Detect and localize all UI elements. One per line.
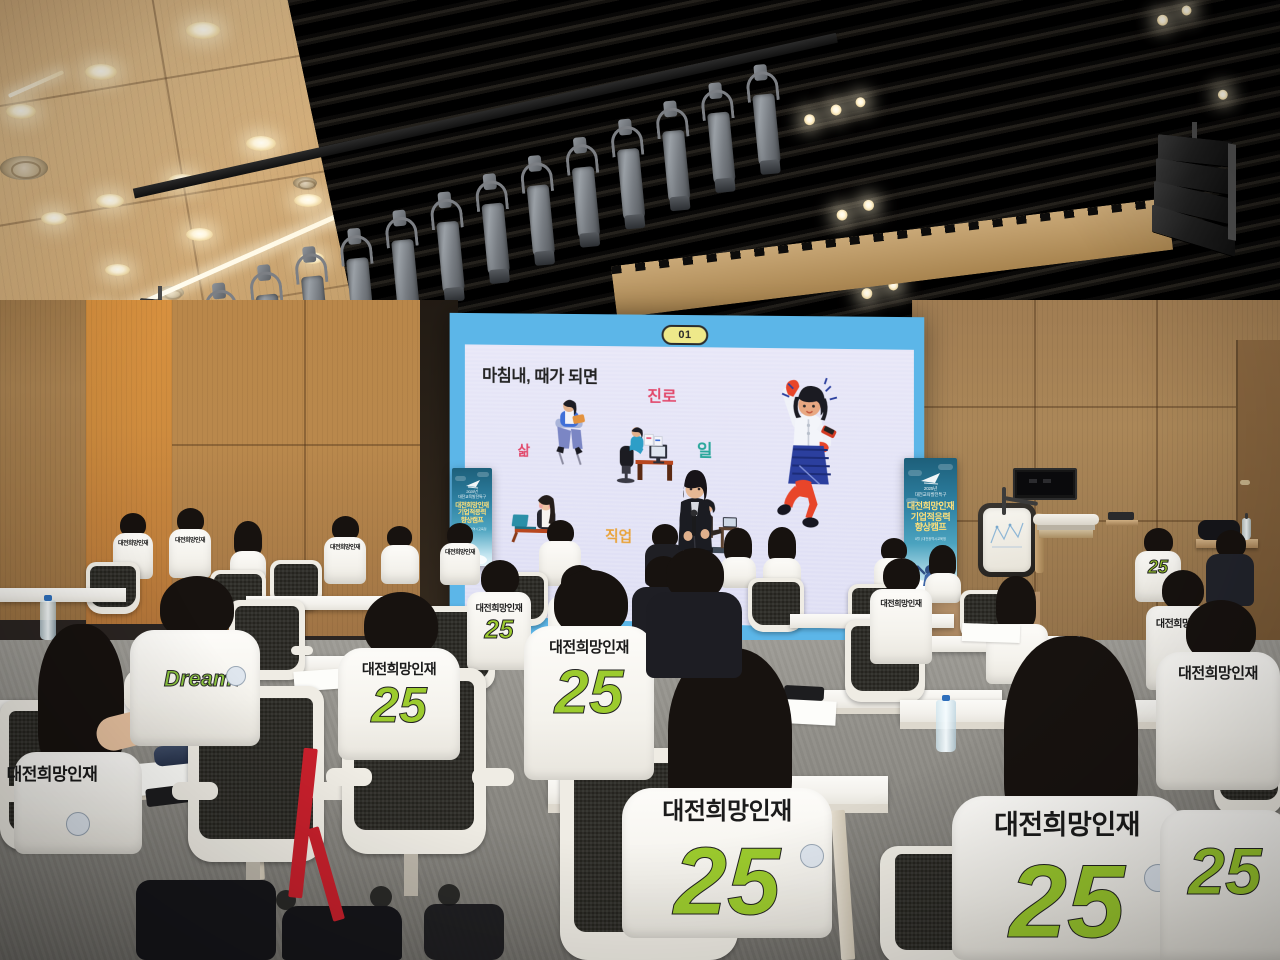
line-array-speaker-right bbox=[1152, 138, 1238, 264]
jersey-back-text: 대전희망인재 bbox=[622, 800, 832, 824]
downlight bbox=[6, 104, 36, 119]
downlight bbox=[186, 22, 220, 39]
jersey-patch bbox=[800, 844, 824, 868]
slide-keyword-sam: 삶 bbox=[518, 441, 530, 461]
stage-spotlight bbox=[571, 158, 602, 256]
slide-title: 마침내, 때가 되면 bbox=[482, 361, 598, 387]
student: 대전희망인재 bbox=[324, 516, 366, 584]
stage-spotlight bbox=[751, 85, 782, 183]
slide-keyword-jinro: 진로 bbox=[647, 382, 676, 406]
banner-left-org: 대전교육발전특구 bbox=[458, 494, 486, 499]
stage-spotlight bbox=[616, 140, 647, 238]
student bbox=[381, 526, 419, 584]
object-on-shelf-left bbox=[1108, 512, 1134, 520]
jersey-back-text: 대전희망인재 bbox=[0, 766, 116, 783]
jersey-number: 25 bbox=[1160, 838, 1280, 904]
jersey-back-text: 대전희망인재 bbox=[338, 662, 460, 676]
tshirt bbox=[646, 592, 742, 678]
illustration-person-desk bbox=[612, 418, 675, 487]
banner-right-org: 대전교육발전특구 bbox=[915, 492, 947, 497]
ceiling-vent bbox=[0, 156, 48, 180]
student: 대전희망인재 bbox=[169, 508, 211, 578]
slide-section-badge: 01 bbox=[662, 325, 709, 346]
student-foreground-dark-shirt bbox=[646, 548, 742, 678]
slide-keyword-il: 일 bbox=[697, 436, 713, 461]
jersey-patch bbox=[66, 812, 90, 836]
banner-right-year: 2025년 bbox=[924, 486, 937, 491]
banner-left-line1: 대전희망인재 bbox=[455, 502, 488, 509]
wall-shelf-left bbox=[1106, 520, 1138, 526]
desk bbox=[0, 588, 126, 602]
monitor-arm bbox=[1002, 485, 1038, 515]
downlight bbox=[105, 264, 130, 276]
bag-under-table[interactable] bbox=[424, 904, 504, 960]
lecture-hall-photo: 01 마침내, 때가 되면 진로 삶 일 직업 bbox=[0, 0, 1280, 960]
ceiling bbox=[0, 0, 1280, 340]
banner-right-line2: 기업적응력 bbox=[911, 512, 950, 522]
backpack[interactable] bbox=[136, 880, 276, 960]
student: 대전희망인재 25 bbox=[467, 560, 531, 670]
downlight bbox=[41, 212, 67, 225]
av-console[interactable] bbox=[1033, 506, 1099, 540]
student-foreground-bottom-right: 25 bbox=[1160, 810, 1280, 960]
student-foreground-center-left: 대전희망인재 25 bbox=[338, 592, 460, 760]
slide-keyword-jigup: 직업 bbox=[605, 525, 632, 547]
student-foreground-right: 대전희망인재 25 bbox=[952, 636, 1182, 960]
downlight bbox=[85, 64, 117, 80]
illustration-jumping-woman bbox=[775, 374, 844, 529]
jersey-number: 25 bbox=[622, 834, 832, 930]
stage-spotlight bbox=[661, 122, 692, 220]
stage-spotlight bbox=[436, 213, 467, 311]
stage-spotlight bbox=[526, 176, 557, 274]
stage-spotlight bbox=[481, 195, 512, 293]
banner-right-line3: 향상캠프 bbox=[915, 522, 947, 532]
jersey-back-text: 대전희망인재 bbox=[952, 812, 1182, 839]
illustration-woman-stool bbox=[544, 397, 597, 467]
jersey-number: 25 bbox=[338, 680, 460, 730]
downlight bbox=[96, 194, 124, 208]
student-foreground-left2: Dreams bbox=[130, 576, 260, 746]
banner-right-date: 8월 | 대전광역시교육청 bbox=[915, 537, 946, 541]
door-handle[interactable] bbox=[1240, 480, 1250, 485]
student: 대전희망인재 bbox=[870, 558, 932, 664]
jersey-back-text: 대전희망인재 bbox=[1156, 666, 1280, 681]
jersey-patch bbox=[226, 666, 246, 686]
downlight bbox=[246, 136, 276, 151]
student-foreground-center2: 대전희망인재 25 bbox=[622, 648, 832, 938]
banner-left-line2: 기업적응력 bbox=[458, 509, 486, 516]
stage-spotlight bbox=[706, 104, 737, 202]
student-foreground-right2: 대전희망인재 bbox=[1156, 600, 1280, 790]
jersey-number: 25 bbox=[952, 850, 1182, 954]
